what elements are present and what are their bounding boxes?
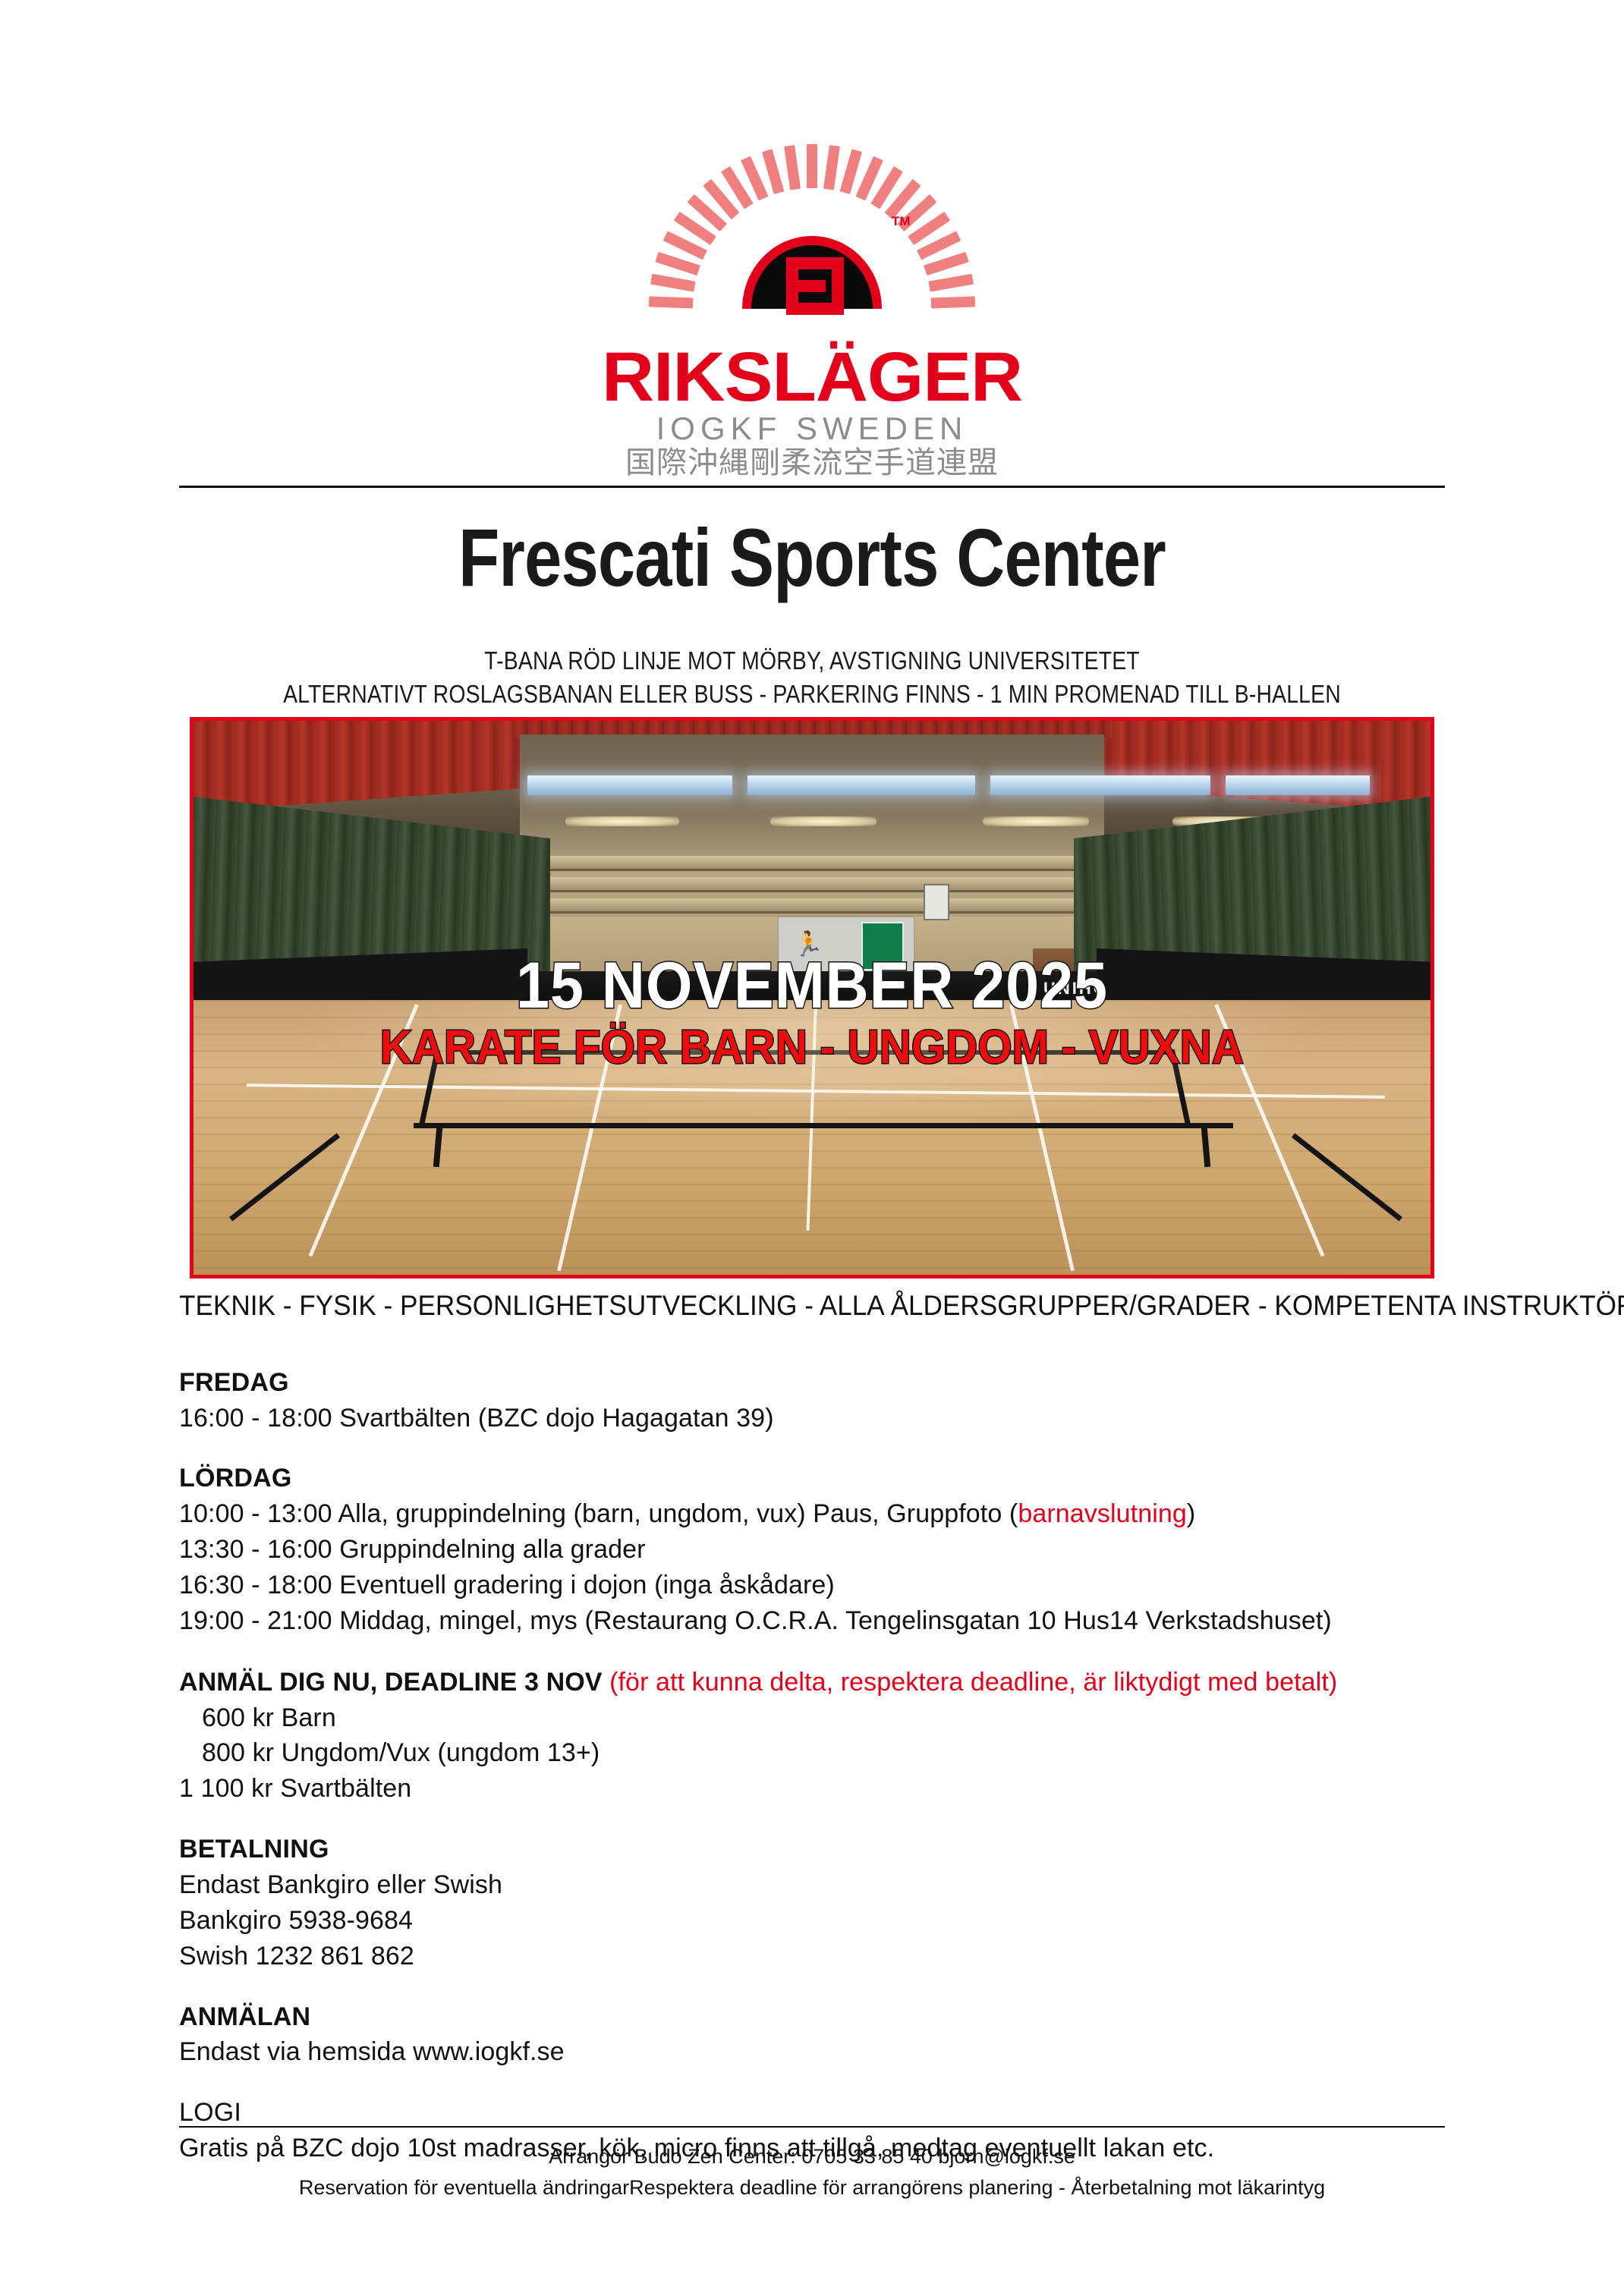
saturday-line-4: 19:00 - 21:00 Middag, mingel, mys (Resta… bbox=[179, 1603, 1469, 1639]
court-box-bottom bbox=[414, 1123, 1233, 1128]
payment-swish: Swish 1232 861 862 bbox=[179, 1939, 1469, 1974]
rikslager-logo: TM RIKSLÄGER IOGKF SWEDEN 国際沖縄剛柔流空手道連盟 bbox=[0, 133, 1624, 480]
saturday-line-1: 10:00 - 13:00 Alla, gruppindelning (barn… bbox=[179, 1496, 1469, 1532]
registration-deadline-heading: ANMÄL DIG NU, DEADLINE 3 NOV bbox=[179, 1668, 603, 1697]
footer-disclaimer: Reservation för eventuella ändringarResp… bbox=[179, 2172, 1445, 2203]
court-tail-right bbox=[1201, 1128, 1211, 1167]
downlight-3 bbox=[983, 816, 1089, 826]
photo-overlay-date: 15 NOVEMBER 2025 bbox=[243, 948, 1381, 1024]
logo-federation-text: IOGKF SWEDEN bbox=[0, 412, 1624, 445]
bleacher-row-2 bbox=[535, 877, 1089, 892]
saturday-line-1-before: 10:00 - 13:00 Alla, gruppindelning (barn… bbox=[179, 1499, 1018, 1528]
footer-organizer-contact: Arrangör Budo Zen Center: 0705 33 85 40 … bbox=[179, 2141, 1445, 2172]
price-youth: 800 kr Ungdom/Vux (ungdom 13+) bbox=[179, 1735, 1469, 1771]
lodging-heading: LOGI bbox=[179, 2096, 1469, 2131]
friday-line-1: 16:00 - 18:00 Svartbälten (BZC dojo Haga… bbox=[179, 1401, 1469, 1436]
ceiling-light-1 bbox=[527, 775, 732, 795]
signup-line-1: Endast via hemsida www.iogkf.se bbox=[179, 2034, 1469, 2070]
saturday-line-3: 16:30 - 18:00 Eventuell gradering i dojo… bbox=[179, 1568, 1469, 1603]
saturday-line-2: 13:30 - 16:00 Gruppindelning alla grader bbox=[179, 1532, 1469, 1568]
features-tagline: TEKNIK - FYSIK - PERSONLIGHETSUTVECKLING… bbox=[179, 1290, 1398, 1322]
downlight-1 bbox=[565, 816, 679, 826]
court-diag-left bbox=[229, 1133, 340, 1221]
saturday-line-1-highlight: barnavslutning bbox=[1018, 1499, 1187, 1528]
price-child: 600 kr Barn bbox=[179, 1700, 1469, 1736]
court-line-cross bbox=[247, 1084, 1385, 1099]
logo-brand-text: RIKSLÄGER bbox=[0, 344, 1624, 410]
poster-page: TM RIKSLÄGER IOGKF SWEDEN 国際沖縄剛柔流空手道連盟 F… bbox=[0, 0, 1624, 2296]
body-content: FREDAG 16:00 - 18:00 Svartbälten (BZC do… bbox=[179, 1366, 1469, 2191]
downlight-2 bbox=[770, 816, 877, 826]
saturday-heading: LÖRDAG bbox=[179, 1461, 1469, 1496]
payment-heading: BETALNING bbox=[179, 1832, 1469, 1867]
saturday-line-1-after: ) bbox=[1187, 1499, 1195, 1528]
page-footer: Arrangör Budo Zen Center: 0705 33 85 40 … bbox=[179, 2141, 1445, 2203]
divider-bottom bbox=[179, 2126, 1445, 2128]
price-blackbelt: 1 100 kr Svartbälten bbox=[179, 1771, 1469, 1807]
photo-overlay-tagline: KARATE FÖR BARN - UNGDOM - VUXNA bbox=[237, 1021, 1387, 1074]
logo-kanji-text: 国際沖縄剛柔流空手道連盟 bbox=[0, 446, 1624, 480]
payment-bankgiro: Bankgiro 5938-9684 bbox=[179, 1903, 1469, 1939]
registration-heading-row: ANMÄL DIG NU, DEADLINE 3 NOV (för att ku… bbox=[179, 1665, 1469, 1700]
ceiling-light-2 bbox=[747, 775, 975, 795]
rising-sun-logo-icon: TM bbox=[637, 133, 987, 341]
wall-sign-icon bbox=[924, 884, 949, 920]
svg-text:TM: TM bbox=[892, 214, 911, 228]
section-registration: ANMÄL DIG NU, DEADLINE 3 NOV (för att ku… bbox=[179, 1665, 1469, 1807]
payment-line-1: Endast Bankgiro eller Swish bbox=[179, 1867, 1469, 1903]
ceiling-light-4 bbox=[1226, 775, 1370, 795]
ceiling-light-3 bbox=[990, 775, 1210, 795]
section-payment: BETALNING Endast Bankgiro eller Swish Ba… bbox=[179, 1832, 1469, 1974]
signup-heading: ANMÄLAN bbox=[179, 2000, 1469, 2035]
section-friday: FREDAG 16:00 - 18:00 Svartbälten (BZC do… bbox=[179, 1366, 1469, 1436]
subtitle-transit-line-1: T-BANA RÖD LINJE MOT MÖRBY, AVSTIGNING U… bbox=[114, 646, 1510, 675]
photo-scene: 🏃 UNIHOC UNIHOC bbox=[194, 721, 1430, 1275]
section-signup: ANMÄLAN Endast via hemsida www.iogkf.se bbox=[179, 2000, 1469, 2070]
bleacher-row-3 bbox=[535, 898, 1089, 914]
friday-heading: FREDAG bbox=[179, 1366, 1469, 1401]
divider-top bbox=[179, 486, 1445, 488]
section-saturday: LÖRDAG 10:00 - 13:00 Alla, gruppindelnin… bbox=[179, 1461, 1469, 1638]
registration-deadline-note: (för att kunna delta, respektera deadlin… bbox=[603, 1668, 1338, 1697]
court-diag-right bbox=[1292, 1133, 1402, 1221]
court-tail-left bbox=[433, 1128, 443, 1167]
subtitle-transit-line-2: ALTERNATIVT ROSLAGSBANAN ELLER BUSS - PA… bbox=[114, 680, 1510, 709]
bleacher-row-1 bbox=[535, 856, 1089, 871]
sports-hall-photo: 🏃 UNIHOC UNIHOC bbox=[190, 717, 1434, 1279]
page-title: Frescati Sports Center bbox=[146, 510, 1478, 605]
